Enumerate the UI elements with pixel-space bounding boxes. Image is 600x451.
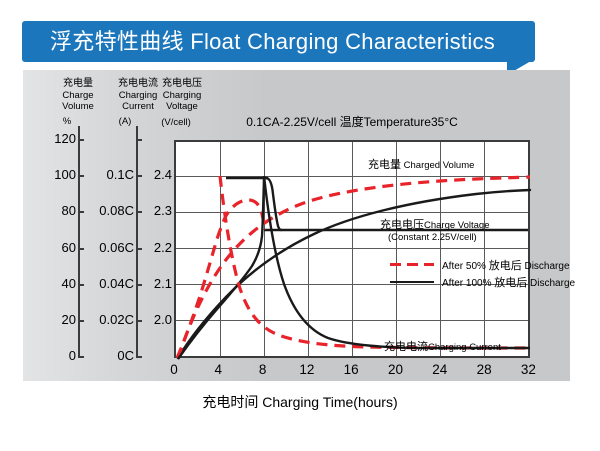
title-banner: 浮充特性曲线 Float Charging Characteristics [22, 21, 535, 62]
y-voltage-tick-label: 2.0 [112, 312, 172, 327]
axis-header-charge-volume-cn: 充电量 [63, 78, 93, 89]
y-volume-tick-label: 20 [16, 312, 76, 327]
annotation-charge-voltage-sub: (Constant 2.25V/cell) [388, 232, 477, 243]
y-current-tick [136, 139, 142, 141]
axis-header-charging-voltage-cn: 充电电压 [162, 78, 202, 89]
x-axis-tick-label: 4 [205, 362, 231, 377]
annotation-charge-voltage: 充电电压Charge Voltage [380, 216, 490, 232]
annotation-charging-current-en: Charging Current [428, 342, 501, 353]
y-current-tick-label: 0C [74, 348, 134, 363]
y-voltage-tick-label: 2.1 [112, 276, 172, 291]
y-voltage-tick-label: 2.3 [112, 203, 172, 218]
annotation-charged-volume: 充电量 Charged Volume [368, 156, 474, 172]
legend-after-50-suffix: Discharge [524, 261, 569, 272]
y-current-tick [136, 356, 142, 358]
x-axis-tick-label: 24 [427, 362, 453, 377]
x-axis-tick-label: 16 [338, 362, 364, 377]
y-volume-tick-label: 100 [16, 167, 76, 182]
axis-unit-ampere: (A) [112, 116, 138, 127]
axis-header-charge-volume-en2: Volume [62, 101, 94, 112]
legend-after-100-cn: 放电后 [494, 277, 527, 289]
y-voltage-tick-label: 2.2 [112, 240, 172, 255]
chart-conditions: 0.1CA-2.25V/cell 温度Temperature35°C [174, 113, 530, 130]
curves-svg [176, 142, 532, 360]
annotation-charged-volume-cn: 充电量 [368, 159, 401, 171]
legend-label-after-50: After 50% 放电后 Discharge [442, 257, 570, 273]
y-volume-tick-label: 40 [16, 276, 76, 291]
y-volume-tick-label: 0 [16, 348, 76, 363]
x-axis-tick-label: 20 [383, 362, 409, 377]
legend-swatch-solid-icon [390, 281, 434, 283]
legend-after-50-cn: 放电后 [489, 260, 522, 272]
axis-header-charge-volume-en1: Charge [62, 90, 93, 101]
x-axis-title: 充电时间 Charging Time(hours) [0, 392, 600, 412]
legend-after-50-prefix: After 50% [442, 261, 486, 272]
annotation-charged-volume-en: Charged Volume [404, 160, 475, 171]
y-voltage-tick-label: 2.4 [112, 167, 172, 182]
y-volume-tick-label: 80 [16, 203, 76, 218]
y-volume-tick [78, 139, 84, 141]
axis-header-charge-volume: 充电量 Charge Volume [44, 78, 112, 113]
x-axis-tick-label: 8 [250, 362, 276, 377]
legend-label-after-100: After 100% 放电后 Discharge [442, 274, 575, 290]
annotation-charge-voltage-en: Charge Voltage [424, 220, 490, 231]
legend-after-100-suffix: Discharge [530, 278, 575, 289]
axis-unit-percent: % [54, 116, 80, 127]
x-axis-tick-label: 28 [471, 362, 497, 377]
x-axis-title-cn: 充电时间 [202, 394, 258, 410]
curve-voltage-after-50 [177, 200, 264, 358]
page-title: 浮充特性曲线 Float Charging Characteristics [50, 21, 495, 62]
annotation-charging-current: 充电电流Charging Current [384, 338, 501, 354]
x-axis-tick-label: 12 [294, 362, 320, 377]
annotation-charging-current-cn: 充电电流 [384, 341, 428, 353]
curve-voltage-after-100 [178, 178, 268, 359]
x-axis-title-en: Charging Time(hours) [262, 394, 397, 410]
legend-swatch-dashed-icon [390, 263, 434, 266]
axis-header-charging-voltage-en2: Voltage [166, 101, 198, 112]
x-axis-tick-label: 32 [515, 362, 541, 377]
axis-header-charging-voltage: 充电电压 Charging Voltage [148, 78, 216, 113]
y-volume-tick-label: 60 [16, 240, 76, 255]
legend-after-100-prefix: After 100% [442, 278, 491, 289]
axis-header-charging-voltage-en1: Charging [163, 90, 202, 101]
annotation-charge-voltage-cn: 充电电压 [380, 219, 424, 231]
x-axis-tick-label: 0 [161, 362, 187, 377]
plot-area: 充电量 Charged Volume 充电电压Charge Voltage (C… [174, 140, 530, 358]
y-volume-tick-label: 120 [16, 131, 76, 146]
